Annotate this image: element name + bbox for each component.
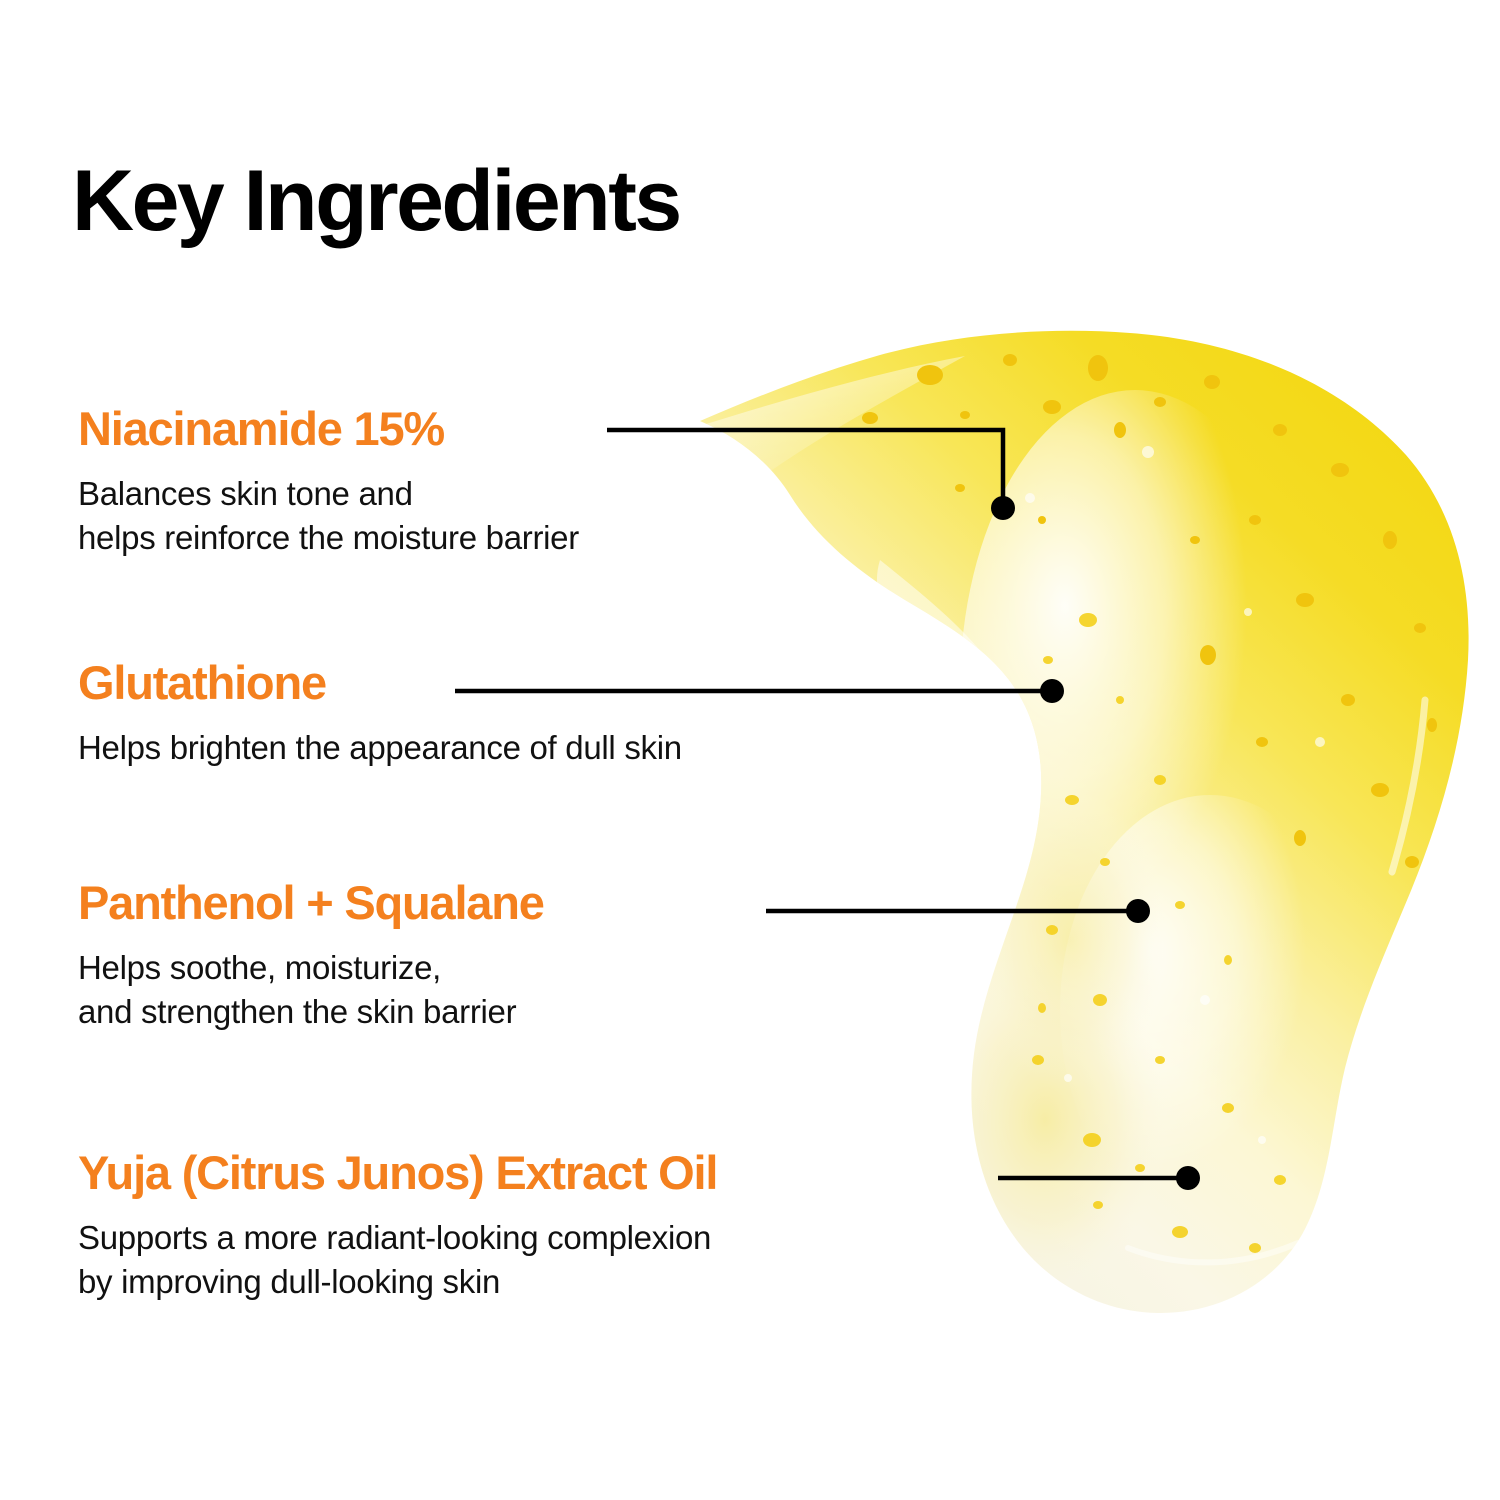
ingredient-name: Glutathione	[78, 658, 682, 707]
swatch-shape	[700, 331, 1469, 1313]
ingredient-description: Helps brighten the appearance of dull sk…	[78, 707, 682, 770]
ingredient-description: Balances skin tone and helps reinforce t…	[78, 453, 579, 560]
ingredient-item-niacinamide: Niacinamide 15% Balances skin tone and h…	[78, 404, 579, 560]
ingredient-description: Supports a more radiant-looking complexi…	[78, 1197, 717, 1304]
ingredient-name: Panthenol + Squalane	[78, 878, 544, 927]
ingredient-name: Niacinamide 15%	[78, 404, 579, 453]
ingredient-name: Yuja (Citrus Junos) Extract Oil	[78, 1148, 717, 1197]
ingredient-item-yuja-extract-oil: Yuja (Citrus Junos) Extract Oil Supports…	[78, 1148, 717, 1304]
key-ingredients-infographic: Key Ingredients Niacinamide 15% Balances…	[0, 0, 1500, 1500]
ingredient-item-panthenol-squalane: Panthenol + Squalane Helps soothe, moist…	[78, 878, 544, 1034]
ingredient-item-glutathione: Glutathione Helps brighten the appearanc…	[78, 658, 682, 770]
page-title: Key Ingredients	[72, 158, 680, 244]
ingredient-description: Helps soothe, moisturize, and strengthen…	[78, 927, 544, 1034]
